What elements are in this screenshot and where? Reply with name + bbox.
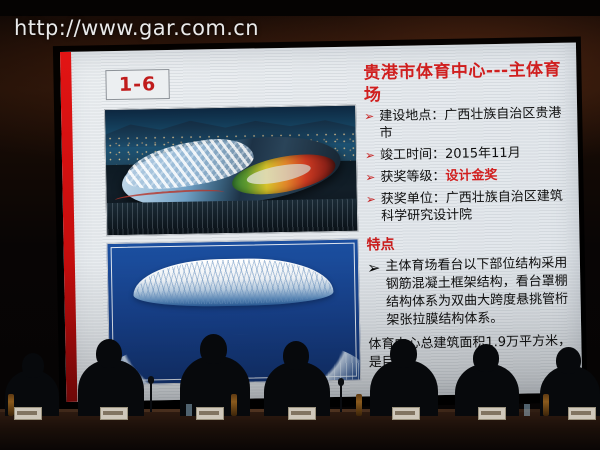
feature-paragraph: ➢ 主体育场看台以下部位结构采用钢筋混凝土框架结构，看台罩棚结构体系为双曲大跨度… (367, 255, 578, 331)
slide-text-column: ➢ 建设地点：广西壮族自治区贵港市 ➢ 竣工时间：2015年11月 ➢ 获奖等级… (364, 105, 579, 373)
bullet-arrow-icon: ➢ (365, 147, 375, 164)
bullet-text: 竣工时间：2015年11月 (380, 145, 521, 165)
bullet-arrow-icon: ➢ (365, 169, 375, 186)
features-heading: 特点 (366, 231, 576, 255)
list-item: ➢ 竣工时间：2015年11月 (365, 144, 575, 165)
bullet-arrow-icon: ➢ (364, 108, 374, 125)
bullet-arrow-icon: ➢ (367, 258, 381, 278)
roof-structure-render (107, 239, 362, 386)
bullet-label: 建设地点： (379, 108, 444, 124)
screenshot-stage: http://www.gar.com.cn 1-6 贵港市体育中心---主体育场 (0, 0, 600, 450)
bullet-arrow-icon: ➢ (366, 191, 376, 208)
presentation-slide: 1-6 贵港市体育中心---主体育场 (60, 43, 582, 402)
slide-number-label: 1-6 (119, 73, 157, 96)
bullet-value: 2015年11月 (445, 146, 521, 162)
bullet-text: 获奖单位：广西壮族自治区建筑科学研究设计院 (381, 188, 577, 226)
watermark-url: http://www.gar.com.cn (14, 16, 259, 40)
list-item: ➢ 建设地点：广西壮族自治区贵港市 (364, 105, 575, 143)
ceiling-dark-strip (0, 0, 600, 16)
list-item: ➢ 获奖等级：设计金奖 (365, 166, 575, 187)
bullet-value-highlight: 设计金奖 (445, 168, 497, 184)
slide-title: 贵港市体育中心---主体育场 (363, 59, 570, 107)
trailing-paragraph: 体育中心总建筑面积1.9万平方米，是目前… (368, 333, 579, 373)
plaza-steps (107, 198, 358, 235)
list-item: ➢ 获奖单位：广西壮族自治区建筑科学研究设计院 (366, 188, 577, 226)
bullet-label: 获奖单位： (381, 191, 446, 207)
bullet-label: 获奖等级： (380, 169, 445, 185)
bullet-text: 获奖等级：设计金奖 (380, 167, 497, 186)
feature-text: 主体育场看台以下部位结构采用钢筋混凝土框架结构，看台罩棚结构体系为双曲大跨度悬挑… (385, 255, 578, 330)
bullet-label: 竣工时间： (380, 147, 445, 163)
bullet-text: 建设地点：广西壮族自治区贵港市 (379, 105, 575, 143)
slide-number-badge: 1-6 (105, 69, 170, 100)
projection-screen: 1-6 贵港市体育中心---主体育场 (60, 43, 582, 404)
stadium-night-photo (104, 105, 358, 237)
